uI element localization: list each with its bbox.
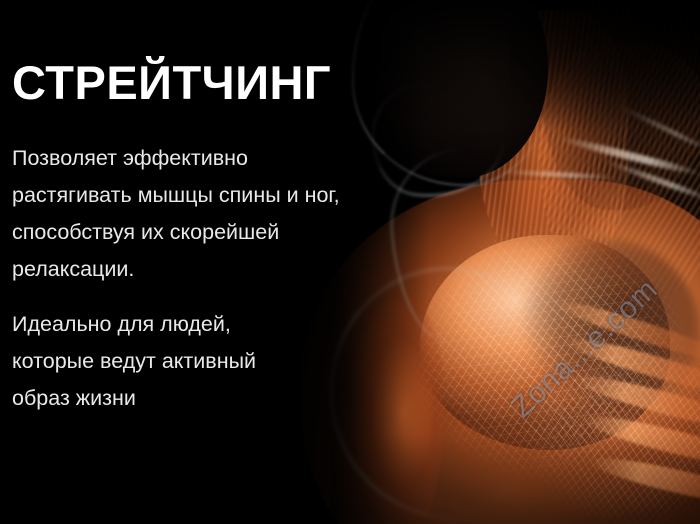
text-column: СТРЕЙТЧИНГ Позволяет эффективно растягив… <box>12 0 412 524</box>
corner-vignette <box>510 0 700 150</box>
wireframe-mesh <box>520 330 700 524</box>
paragraph-line: образ жизни <box>12 380 412 417</box>
paragraph-line: способствуя их скорейшей <box>12 214 412 251</box>
clavicle-highlight <box>556 134 700 178</box>
lat-band <box>588 450 700 513</box>
neck-muscles <box>478 10 628 270</box>
lat-band <box>561 330 700 403</box>
paragraph-line: растягивать мышцы спины и ног, <box>12 177 412 214</box>
trapezius-fibers <box>527 31 700 309</box>
deltoid-muscle <box>420 235 670 450</box>
audience-paragraph: Идеально для людей, которые ведут активн… <box>12 306 412 417</box>
page-title: СТРЕЙТЧИНГ <box>12 59 331 106</box>
lat-band <box>550 293 700 370</box>
deltoid-shadow <box>500 238 700 428</box>
paragraph-line: Идеально для людей, <box>12 306 412 343</box>
lat-band <box>580 408 700 475</box>
lat-band <box>570 368 700 438</box>
scapula-highlight <box>603 158 700 205</box>
stretching-slide: Zona...e.com СТРЕЙТЧИНГ Позволяет эффект… <box>0 0 700 524</box>
paragraph-line: Позволяет эффективно <box>12 140 412 177</box>
paragraph-line: которые ведут активный <box>12 343 412 380</box>
paragraph-line: релаксации. <box>12 251 412 288</box>
wireframe-mesh <box>382 196 700 524</box>
spine-highlight <box>498 169 618 180</box>
benefit-paragraph: Позволяет эффективно растягивать мышцы с… <box>12 140 412 288</box>
scapula-highlight <box>614 102 700 155</box>
watermark-text: Zona...e.com <box>505 272 665 424</box>
hair-strands <box>540 0 700 210</box>
